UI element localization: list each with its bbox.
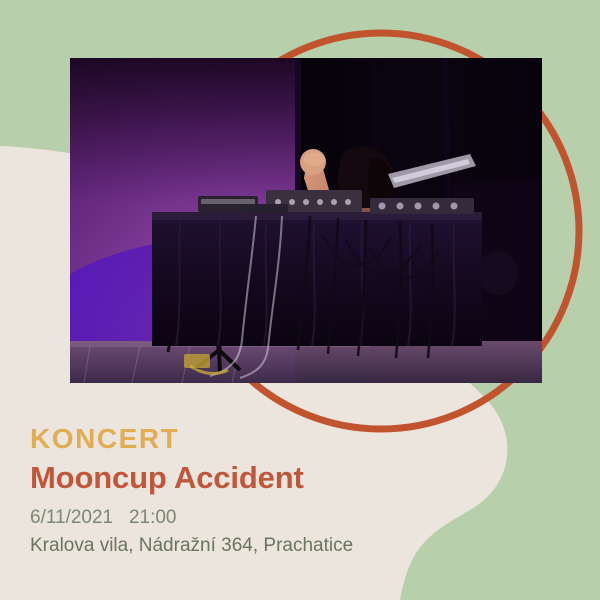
concert-photo: [70, 58, 542, 383]
event-title: Mooncup Accident: [30, 462, 570, 495]
event-datetime: 6/11/2021 21:00: [30, 507, 570, 530]
poster-text-block: KONCERT Mooncup Accident 6/11/2021 21:00…: [30, 424, 570, 558]
concert-poster: KONCERT Mooncup Accident 6/11/2021 21:00…: [0, 0, 600, 600]
event-venue: Kralova vila, Nádražní 364, Prachatice: [30, 535, 570, 558]
event-category-label: KONCERT: [30, 424, 570, 453]
concert-photo-image: [70, 58, 542, 383]
